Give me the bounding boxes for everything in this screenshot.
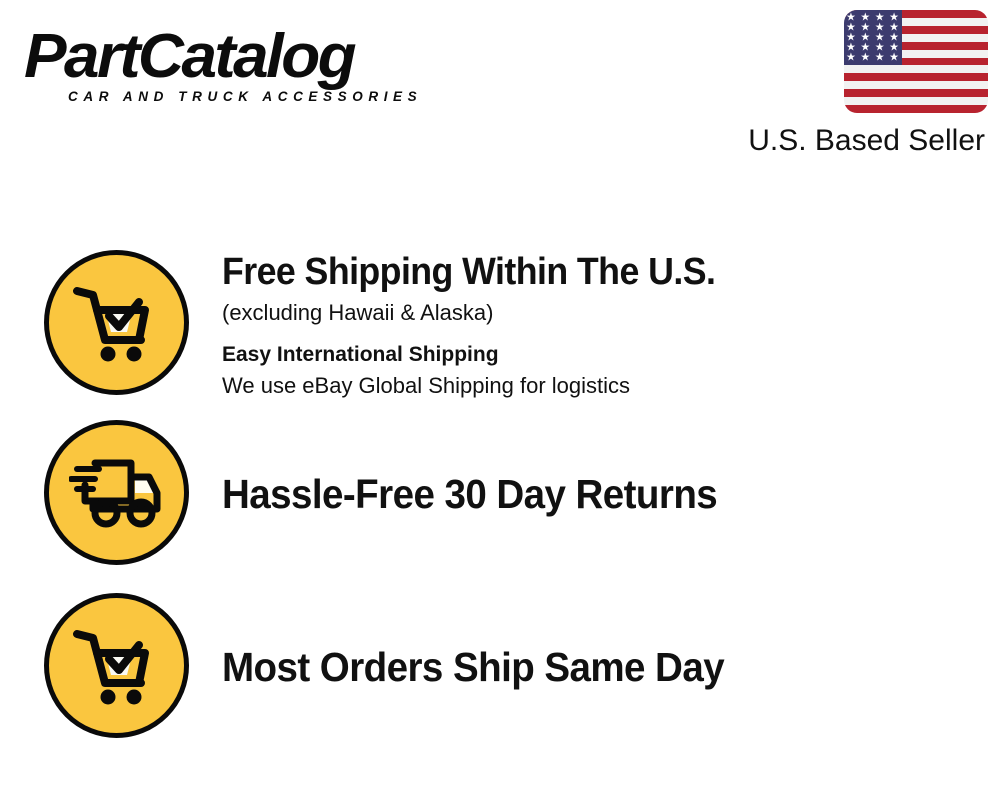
- shopping-cart-check-icon: [44, 250, 189, 395]
- seller-label: U.S. Based Seller: [718, 124, 985, 158]
- feature-title: Hassle-Free 30 Day Returns: [222, 473, 953, 517]
- feature-secondary-text: We use eBay Global Shipping for logistic…: [222, 372, 1000, 401]
- feature-title: Free Shipping Within The U.S.: [222, 252, 953, 293]
- banner-header: PartCatalog CAR AND TRUCK ACCESSORIES ★★…: [0, 0, 1000, 165]
- flag-stripe: [844, 89, 988, 97]
- feature-text-block: Free Shipping Within The U.S. (excluding…: [222, 250, 1000, 400]
- flag-stripe: [844, 105, 988, 113]
- flag-stripe: [844, 81, 988, 89]
- flag-stripe: [844, 73, 988, 81]
- flag-star-icon: ★: [846, 53, 856, 64]
- flag-star-icon: ★: [860, 53, 870, 64]
- feature-subtitle: (excluding Hawaii & Alaska): [222, 298, 1000, 328]
- delivery-truck-icon: [44, 420, 189, 565]
- brand-tagline: CAR AND TRUCK ACCESSORIES: [68, 89, 494, 104]
- shopping-cart-check-icon: [44, 593, 189, 738]
- feature-title: Most Orders Ship Same Day: [222, 646, 953, 690]
- flag-stripe: [844, 65, 988, 73]
- feature-row: Hassle-Free 30 Day Returns: [0, 420, 1000, 570]
- feature-row: Free Shipping Within The U.S. (excluding…: [0, 250, 1000, 400]
- brand-logo: PartCatalog CAR AND TRUCK ACCESSORIES: [24, 28, 494, 104]
- us-flag-icon: ★★★★★★★★★★★★★★★★★★★★: [844, 10, 988, 113]
- flag-stripe: [844, 97, 988, 105]
- us-based-seller-badge: ★★★★★★★★★★★★★★★★★★★★ U.S. Based Seller: [718, 10, 988, 158]
- brand-wordmark: PartCatalog: [24, 28, 508, 87]
- feature-row: Most Orders Ship Same Day: [0, 593, 1000, 743]
- feature-text-block: Hassle-Free 30 Day Returns: [222, 473, 1000, 517]
- flag-canton: ★★★★★★★★★★★★★★★★★★★★: [844, 10, 902, 65]
- flag-star-icon: ★: [875, 53, 885, 64]
- flag-star-icon: ★: [889, 53, 899, 64]
- feature-secondary-heading: Easy International Shipping: [222, 341, 1000, 368]
- feature-text-block: Most Orders Ship Same Day: [222, 646, 1000, 690]
